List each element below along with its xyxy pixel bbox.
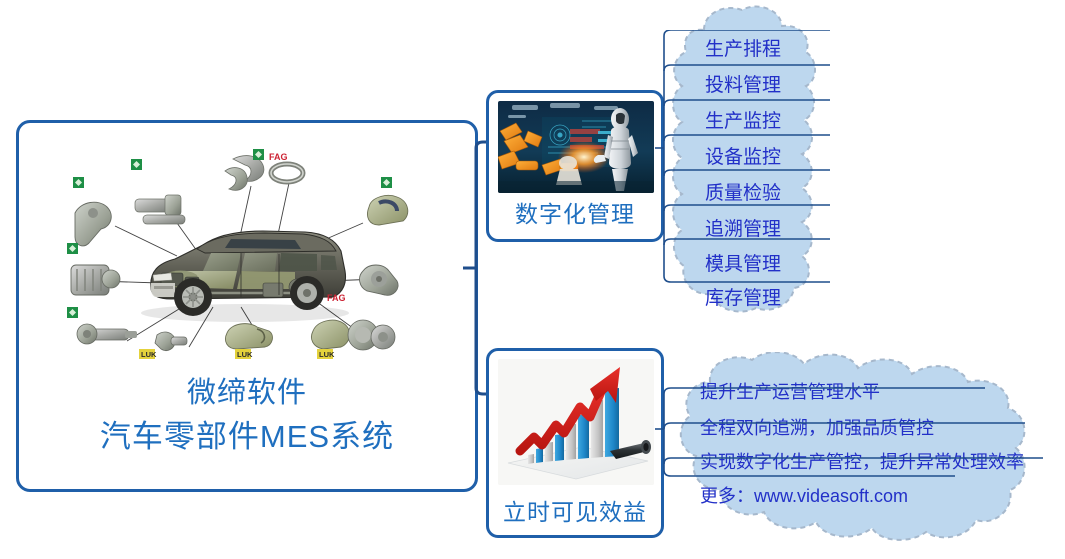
list-item-inventory[interactable]: 库存管理 (664, 283, 822, 310)
cloud-visible-benefit-items: 提升生产运营管理水平 全程双向追溯，加强品质管控 实现数字化生产管控，提升异常处… (664, 352, 1056, 542)
list-item-equipment-monitor[interactable]: 设备监控 (664, 142, 822, 169)
main-panel: FAG FAG LUK LUK LUK 微缔软件 汽车零部件MES系统 (16, 120, 478, 492)
list-item-production-monitor[interactable]: 生产监控 (664, 106, 822, 133)
list-item-mold-management[interactable]: 模具管理 (664, 249, 822, 276)
module-label-visible-benefit: 立时可见效益 (489, 493, 661, 527)
cloud-bottom-item-list: 提升生产运营管理水平 全程双向追溯，加强品质管控 实现数字化生产管控，提升异常处… (664, 352, 1056, 542)
svg-text:FAG: FAG (269, 152, 288, 162)
product-name: 汽车零部件MES系统 (19, 417, 475, 457)
svg-text:LUK: LUK (319, 350, 335, 359)
module-box-visible-benefit[interactable]: 立时可见效益 (486, 348, 664, 538)
growth-chart-thumbnail (498, 359, 654, 485)
benefit-item-operations-level[interactable]: 提升生产运营管理水平 (700, 378, 880, 404)
svg-text:LUK: LUK (141, 350, 157, 359)
smart-factory-robot-thumbnail (498, 101, 654, 193)
list-item-scheduling[interactable]: 生产排程 (664, 34, 822, 61)
svg-text:LUK: LUK (237, 350, 253, 359)
module-box-digital-management[interactable]: 数字化管理 (486, 90, 664, 242)
list-item-quality-inspection[interactable]: 质量检验 (664, 178, 822, 205)
benefit-item-digital-control[interactable]: 实现数字化生产管控，提升异常处理效率 (700, 448, 1024, 474)
benefit-item-more-website[interactable]: 更多：www.videasoft.com (700, 482, 908, 508)
list-item-material-feeding[interactable]: 投料管理 (664, 70, 822, 97)
benefit-item-bidirectional-trace[interactable]: 全程双向追溯，加强品质管控 (700, 414, 934, 440)
cloud-top-item-list: 生产排程 投料管理 生产监控 设备监控 质量检验 追溯管理 模具管理 库存管理 (664, 4, 822, 316)
car-exploded-parts-illustration: FAG FAG LUK LUK LUK (27, 131, 473, 371)
company-name: 微缔软件 (19, 375, 475, 413)
svg-text:FAG: FAG (327, 293, 346, 303)
list-item-traceability[interactable]: 追溯管理 (664, 214, 822, 241)
module-label-digital-management: 数字化管理 (489, 195, 661, 229)
cloud-digital-management-items: 生产排程 投料管理 生产监控 设备监控 质量检验 追溯管理 模具管理 库存管理 (664, 4, 822, 316)
page-title: 微缔软件 汽车零部件MES系统 (19, 375, 475, 457)
